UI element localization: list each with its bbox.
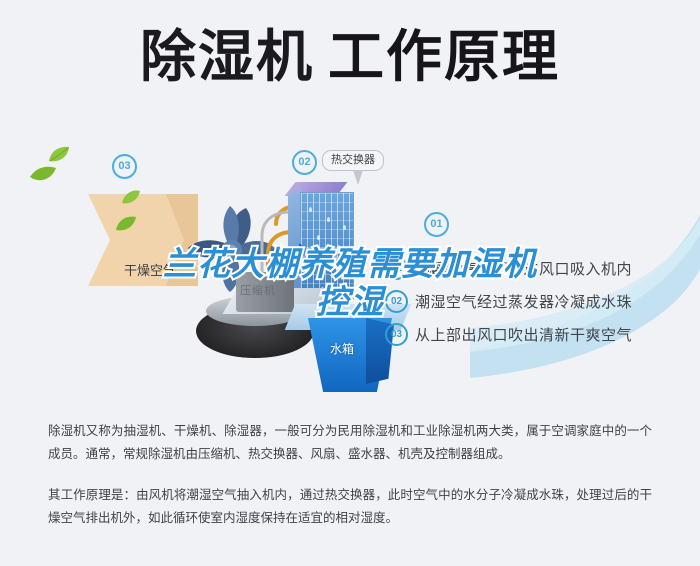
label-dry-air: 干燥空气 [124, 260, 176, 279]
intake-arrow-icon: ⬅ [366, 280, 382, 299]
leaf-icon [116, 216, 136, 237]
airflow-arrow-right-icon: ➜ [292, 240, 305, 255]
steps-legend: 01 潮湿空气由下部进风口吸入机内 02 潮湿空气经过蒸发器冷凝成水珠 03 从… [385, 252, 685, 351]
callout-heat-exchanger-label: 热交换器 [331, 154, 375, 166]
airflow-arrow-down-icon: ⬇ [300, 264, 313, 279]
legend-item: 02 潮湿空气经过蒸发器冷凝成水珠 [385, 285, 685, 318]
step-marker-02: 02 [292, 150, 317, 175]
legend-badge-01: 01 [385, 257, 408, 280]
page-title-part2: 工作原理 [328, 25, 560, 88]
leaf-icon [122, 190, 140, 210]
header-banner: 除湿机工作原理 [0, 0, 700, 118]
step-marker-01: 01 [424, 212, 449, 237]
label-compressor: 压缩机 [240, 282, 276, 298]
page-title-part1: 除湿机 [140, 25, 314, 88]
legend-text-03: 从上部出风口吹出清新干爽空气 [415, 324, 632, 345]
description-paragraph-2: 其工作原理是：由风机将潮湿空气抽入机内，通过热交换器，此时空气中的水分子冷凝成水… [48, 484, 652, 530]
description-section: 除湿机又称为抽湿机、干燥机、除湿器，一般可分为民用除湿机和工业除湿机两大类，属于… [0, 402, 700, 566]
legend-text-02: 潮湿空气经过蒸发器冷凝成水珠 [415, 291, 632, 312]
step-marker-03: 03 [112, 154, 137, 179]
description-paragraph-1: 除湿机又称为抽湿机、干燥机、除湿器，一般可分为民用除湿机和工业除湿机两大类，属于… [48, 420, 652, 466]
legend-badge-03: 03 [385, 323, 408, 346]
leaf-icon [30, 166, 56, 188]
airflow-arrow-up-icon: ⬆ [266, 268, 279, 283]
legend-badge-02: 02 [385, 290, 408, 313]
legend-item: 01 潮湿空气由下部进风口吸入机内 [385, 252, 685, 285]
label-water-tank: 水箱 [330, 340, 354, 357]
legend-text-01: 潮湿空气由下部进风口吸入机内 [415, 258, 632, 279]
page-title: 除湿机工作原理 [0, 22, 700, 92]
legend-item: 03 从上部出风口吹出清新干爽空气 [385, 318, 685, 351]
callout-heat-exchanger: 热交换器 [322, 150, 384, 171]
page-root: 除湿机工作原理 [0, 0, 700, 566]
